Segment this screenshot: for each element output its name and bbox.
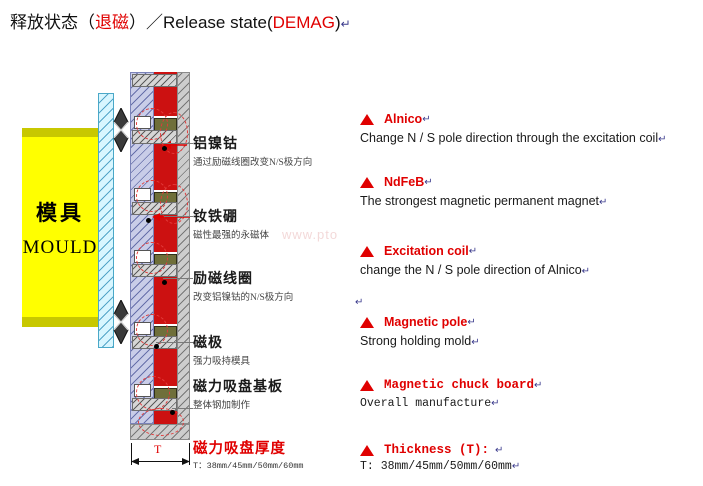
mould-bottom-band <box>22 317 98 327</box>
attraction-arrow-lower <box>110 300 132 344</box>
legend-pilcrow-excitation-coil: ↵ <box>469 246 477 257</box>
legend-desc-pilcrow-alnico: ↵ <box>658 134 666 145</box>
legend-head-chuck-board: Magnetic chuck board ↵ <box>360 378 542 392</box>
legend-desc-thickness: T: 38mm/45mm/50mm/60mm↵ <box>360 460 520 473</box>
triangle-bullet-icon <box>360 177 374 188</box>
legend-title-magnetic-pole: Magnetic pole <box>384 315 467 329</box>
legend-desc-pilcrow-excitation-coil: ↵ <box>582 266 590 277</box>
leader-line-5 <box>172 408 193 409</box>
leader-line-1 <box>163 143 193 144</box>
legend-desc-ndfeb: The strongest magnetic permanent magnet↵ <box>360 194 607 208</box>
legend-item-ndfeb: NdFeB ↵ The strongest magnetic permanent… <box>360 175 607 208</box>
title-en-red: DEMAG <box>273 13 335 32</box>
callout-alnico: 铝镍钴 通过励磁线圈改变N/S极方向 <box>193 133 312 168</box>
leader-line-4 <box>156 342 193 343</box>
title-separator: ／ <box>146 13 163 32</box>
callout-pole: 磁极 强力吸持模具 <box>193 332 250 367</box>
legend-pilcrow-ndfeb: ↵ <box>424 177 432 188</box>
legend-desc-thickness-text: T: 38mm/45mm/50mm/60mm <box>360 460 512 473</box>
callout-alnico-heading: 铝镍钴 <box>193 133 312 153</box>
flux-loop-base <box>138 408 184 436</box>
anchor-dot-3 <box>162 280 167 285</box>
legend-head-alnico: Alnico ↵ <box>360 112 667 126</box>
magnetic-chuck-assembly <box>130 72 190 440</box>
title-cn-part2: ） <box>129 13 146 32</box>
legend-head-ndfeb: NdFeB ↵ <box>360 175 607 189</box>
callout-alnico-sub: 通过励磁线圈改变N/S极方向 <box>193 154 312 168</box>
legend-desc-chuck-board-text: Overall manufacture <box>360 397 491 410</box>
legend-pilcrow-magnetic-pole: ↵ <box>467 317 475 328</box>
callout-coil-sub: 改变铝镍钴的N/S极方向 <box>193 289 293 303</box>
legend-item-magnetic-pole: Magnetic pole ↵ Strong holding mold↵ <box>360 315 480 348</box>
leader-line-3 <box>163 278 193 279</box>
legend-title-chuck-board: Magnetic chuck board <box>384 378 534 392</box>
callout-coil-heading: 励磁线圈 <box>193 268 293 288</box>
watermark: www.pto <box>282 227 338 242</box>
mould-label-en: MOULD <box>22 237 98 259</box>
legend-desc-magnetic-pole: Strong holding mold↵ <box>360 334 480 348</box>
page-title: 释放状态（退磁）／Release state(DEMAG)↵ <box>10 8 351 33</box>
legend-desc-excitation-coil: change the N / S pole direction of Alnic… <box>360 263 590 277</box>
callout-pole-heading: 磁极 <box>193 332 250 352</box>
dimension-line <box>131 457 190 466</box>
callout-coil: 励磁线圈 改变铝镍钴的N/S极方向 <box>193 268 293 303</box>
callout-thickness: 磁力吸盘厚度 T：38mm/45mm/50mm/60mm <box>193 437 304 471</box>
legend-desc-pilcrow-chuck-board: ↵ <box>491 398 499 409</box>
legend-desc-ndfeb-text: The strongest magnetic permanent magnet <box>360 194 599 208</box>
legend-pilcrow-alnico: ↵ <box>422 114 430 125</box>
legend-desc-pilcrow-ndfeb: ↵ <box>599 197 607 208</box>
anchor-dot-5 <box>170 410 175 415</box>
callout-ndfeb-heading: 钕铁硼 <box>193 206 269 226</box>
callout-thickness-heading: 磁力吸盘厚度 <box>193 437 304 458</box>
mould-label-cn: 模具 <box>22 197 98 227</box>
leader-line-2 <box>164 216 193 217</box>
legend-title-alnico: Alnico <box>384 112 422 126</box>
title-cn-red: 退磁 <box>95 13 129 32</box>
pointer-arrow-alnico <box>163 140 187 150</box>
legend-item-alnico: Alnico ↵ Change N / S pole direction thr… <box>360 112 667 145</box>
callout-pole-sub: 强力吸持模具 <box>193 353 250 367</box>
attraction-arrow-upper <box>110 108 132 152</box>
title-pilcrow: ↵ <box>341 17 351 31</box>
legend-item-thickness: Thickness (T): ↵ T: 38mm/45mm/50mm/60mm↵ <box>360 443 520 473</box>
legend-desc-excitation-coil-text: change the N / S pole direction of Alnic… <box>360 263 582 277</box>
callout-thickness-sub: T：38mm/45mm/50mm/60mm <box>193 459 304 471</box>
pole-piece-1 <box>132 74 177 87</box>
legend-head-excitation-coil: Excitation coil ↵ <box>360 244 590 258</box>
callout-ndfeb-sub: 磁性最强的永磁体 <box>193 227 269 241</box>
legend-item-chuck-board: Magnetic chuck board ↵ Overall manufactu… <box>360 378 542 410</box>
legend-desc-pilcrow-thickness: ↵ <box>512 461 520 472</box>
legend-head-magnetic-pole: Magnetic pole ↵ <box>360 315 480 329</box>
callout-chuck-board: 磁力吸盘基板 整体钢加制作 <box>193 376 283 411</box>
legend-pilcrow-chuck-board: ↵ <box>534 380 542 391</box>
legend-title-excitation-coil: Excitation coil <box>384 244 469 258</box>
triangle-bullet-icon <box>360 445 374 456</box>
title-en-part1: Release state( <box>163 13 273 32</box>
flux-loop-7 <box>136 376 170 410</box>
triangle-bullet-icon <box>360 114 374 125</box>
legend-desc-pilcrow-magnetic-pole: ↵ <box>471 337 479 348</box>
legend-head-thickness: Thickness (T): ↵ <box>360 443 520 457</box>
mould-block: 模具 MOULD <box>22 137 98 317</box>
legend-item-excitation-coil: Excitation coil ↵ change the N / S pole … <box>360 244 590 277</box>
callout-ndfeb: 钕铁硼 磁性最强的永磁体 <box>193 206 269 241</box>
title-cn-part1: 释放状态（ <box>10 13 95 32</box>
legend-desc-alnico-text: Change N / S pole direction through the … <box>360 131 658 145</box>
legend-title-thickness: Thickness (T): <box>384 443 489 457</box>
diagram-canvas: 释放状态（退磁）／Release state(DEMAG)↵ 模具 MOULD <box>0 0 703 486</box>
legend-pilcrow-thickness: ↵ <box>495 445 503 456</box>
stray-pilcrow-left: ↵ <box>355 297 363 308</box>
flux-loop-5 <box>136 242 168 274</box>
dimension-label-T: T <box>154 442 161 457</box>
pointer-arrow-ndfeb <box>150 212 190 222</box>
triangle-bullet-icon <box>360 246 374 257</box>
legend-title-ndfeb: NdFeB <box>384 175 424 189</box>
legend-desc-alnico: Change N / S pole direction through the … <box>360 131 667 145</box>
callout-chuck-board-sub: 整体钢加制作 <box>193 397 283 411</box>
legend-desc-magnetic-pole-text: Strong holding mold <box>360 334 471 348</box>
anchor-dot-4 <box>154 344 159 349</box>
callout-chuck-board-heading: 磁力吸盘基板 <box>193 376 283 396</box>
mould-top-band <box>22 128 98 137</box>
triangle-bullet-icon <box>360 380 374 391</box>
triangle-bullet-icon <box>360 317 374 328</box>
legend-desc-chuck-board: Overall manufacture↵ <box>360 397 542 410</box>
